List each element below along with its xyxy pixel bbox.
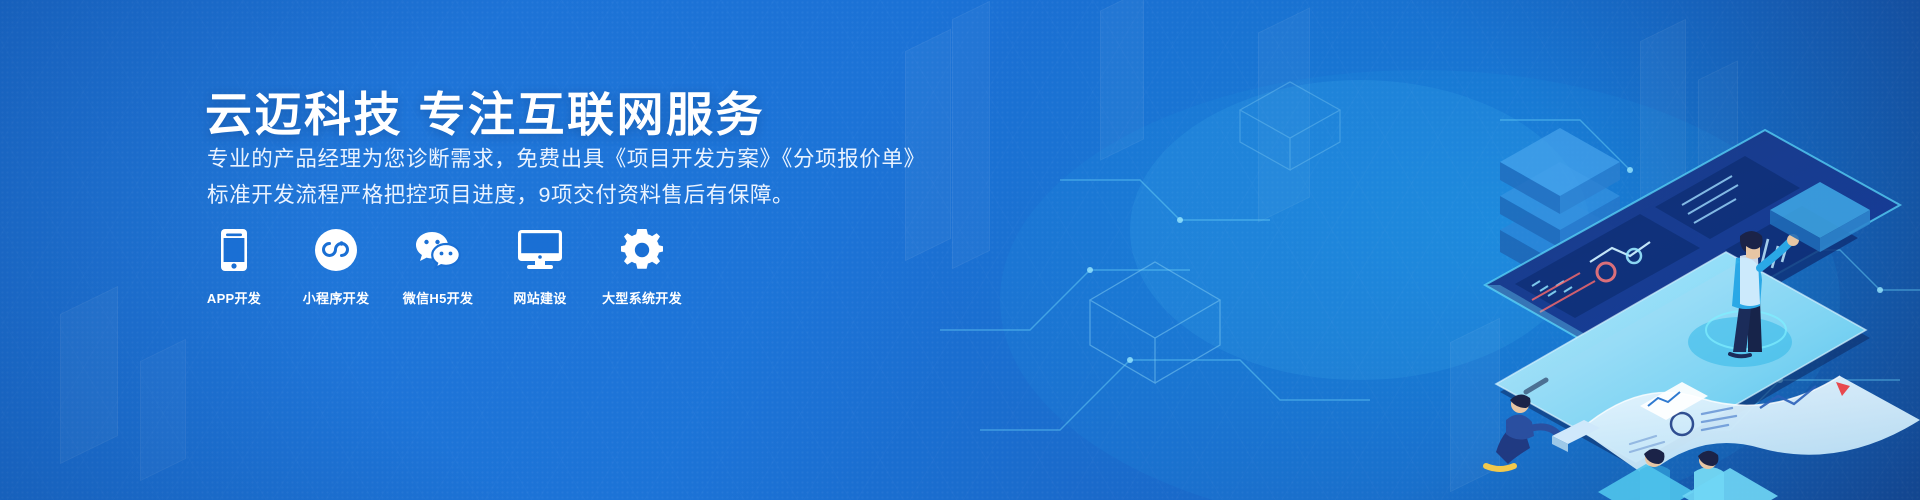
mini-program-icon [315, 228, 357, 272]
promo-banner: 云迈科技 专注互联网服务 专业的产品经理为您诊断需求，免费出具《项目开发方案》《… [0, 0, 1920, 500]
service-label: 网站建设 [513, 288, 566, 307]
service-list: APP开发 小程序开发 [205, 228, 671, 307]
banner-subtitle-line-1: 专业的产品经理为您诊断需求，免费出具《项目开发方案》《分项报价单》 [207, 142, 926, 173]
service-item-wechat[interactable]: 微信H5开发 [409, 228, 467, 307]
wechat-icon [415, 228, 461, 272]
banner-subtitle-line-2: 标准开发流程严格把控项目进度，9项交付资料售后有保障。 [207, 178, 794, 209]
gear-icon [621, 228, 663, 272]
mobile-phone-icon [221, 228, 247, 272]
service-item-mini-program[interactable]: 小程序开发 [307, 228, 365, 307]
service-item-website[interactable]: 网站建设 [511, 228, 569, 307]
banner-headline: 云迈科技 专注互联网服务 [205, 76, 765, 145]
service-item-large-system[interactable]: 大型系统开发 [613, 228, 671, 307]
banner-content: 云迈科技 专注互联网服务 专业的产品经理为您诊断需求，免费出具《项目开发方案》《… [205, 0, 965, 500]
isometric-illustration [940, 0, 1920, 500]
service-item-app[interactable]: APP开发 [205, 228, 263, 307]
service-label: 微信H5开发 [403, 288, 473, 307]
service-label: 小程序开发 [303, 288, 370, 307]
service-label: APP开发 [207, 288, 261, 307]
service-label: 大型系统开发 [602, 288, 682, 307]
monitor-icon [518, 228, 562, 272]
